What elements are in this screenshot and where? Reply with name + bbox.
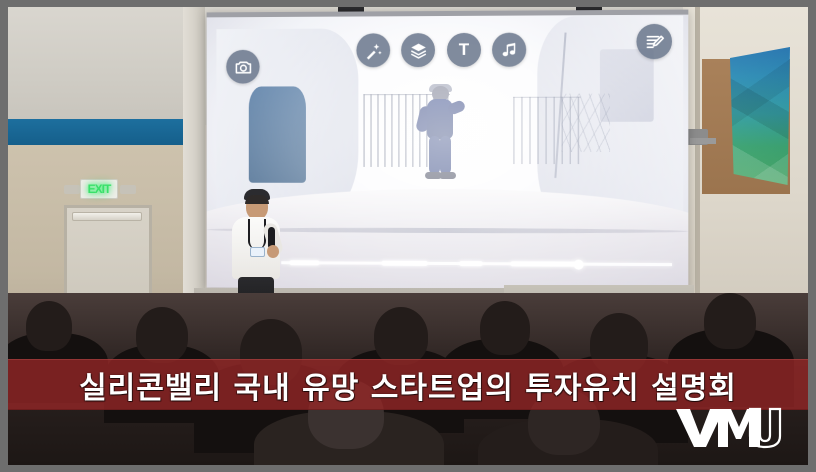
camera-icon xyxy=(234,57,253,76)
music-note-icon xyxy=(500,40,519,59)
exit-bracket-right xyxy=(120,185,136,194)
edit-button[interactable] xyxy=(636,24,672,59)
poster-facets xyxy=(730,47,790,185)
wall-right-edge xyxy=(695,7,700,337)
music-button[interactable] xyxy=(492,33,526,67)
scrubber-segment xyxy=(382,261,429,266)
scrubber-segment xyxy=(510,261,577,266)
caption-bar: 실리콘밸리 국내 유망 스타트업의 투자유치 설명회 xyxy=(8,359,808,410)
scrubber-segment xyxy=(459,261,482,266)
layers-icon xyxy=(409,41,428,60)
wall-mount-arm xyxy=(690,138,716,144)
text-icon: T xyxy=(459,40,469,60)
geometric-poster xyxy=(730,47,790,185)
event-photo: EXIT xyxy=(8,7,808,465)
text-button[interactable]: T xyxy=(447,33,481,67)
audience-head xyxy=(26,301,72,351)
letterbox-bottom xyxy=(0,465,816,472)
caption-text: 실리콘밸리 국내 유망 스타트업의 투자유치 설명회 xyxy=(79,363,737,407)
exit-sign-label: EXIT xyxy=(88,182,111,196)
wall-blue-stripe xyxy=(8,119,190,145)
exit-sign: EXIT xyxy=(80,179,118,199)
audience-head xyxy=(374,307,428,365)
vmw-logo-icon xyxy=(674,405,784,449)
layers-button[interactable] xyxy=(401,33,435,67)
effects-button[interactable] xyxy=(356,33,390,67)
wall-pillar xyxy=(183,7,205,327)
camera-button[interactable] xyxy=(226,50,259,84)
letterbox-top xyxy=(0,0,816,7)
scrubber-playhead[interactable] xyxy=(573,259,583,269)
audience-head xyxy=(704,293,756,349)
edit-icon xyxy=(644,31,664,51)
presenter-hair xyxy=(245,195,269,204)
audience-head xyxy=(480,301,530,355)
audience-head xyxy=(136,307,188,363)
letterbox-right xyxy=(808,0,816,472)
watermark-logo xyxy=(674,405,784,449)
magic-wand-icon xyxy=(364,41,383,60)
screenshot-root: EXIT xyxy=(0,0,816,472)
scrubber-segment xyxy=(289,260,320,265)
presenter-badge xyxy=(250,247,265,257)
door-push-bar xyxy=(72,212,142,221)
letterbox-left xyxy=(0,0,8,472)
exit-bracket-left xyxy=(64,185,80,194)
presenter-hand xyxy=(267,245,279,258)
